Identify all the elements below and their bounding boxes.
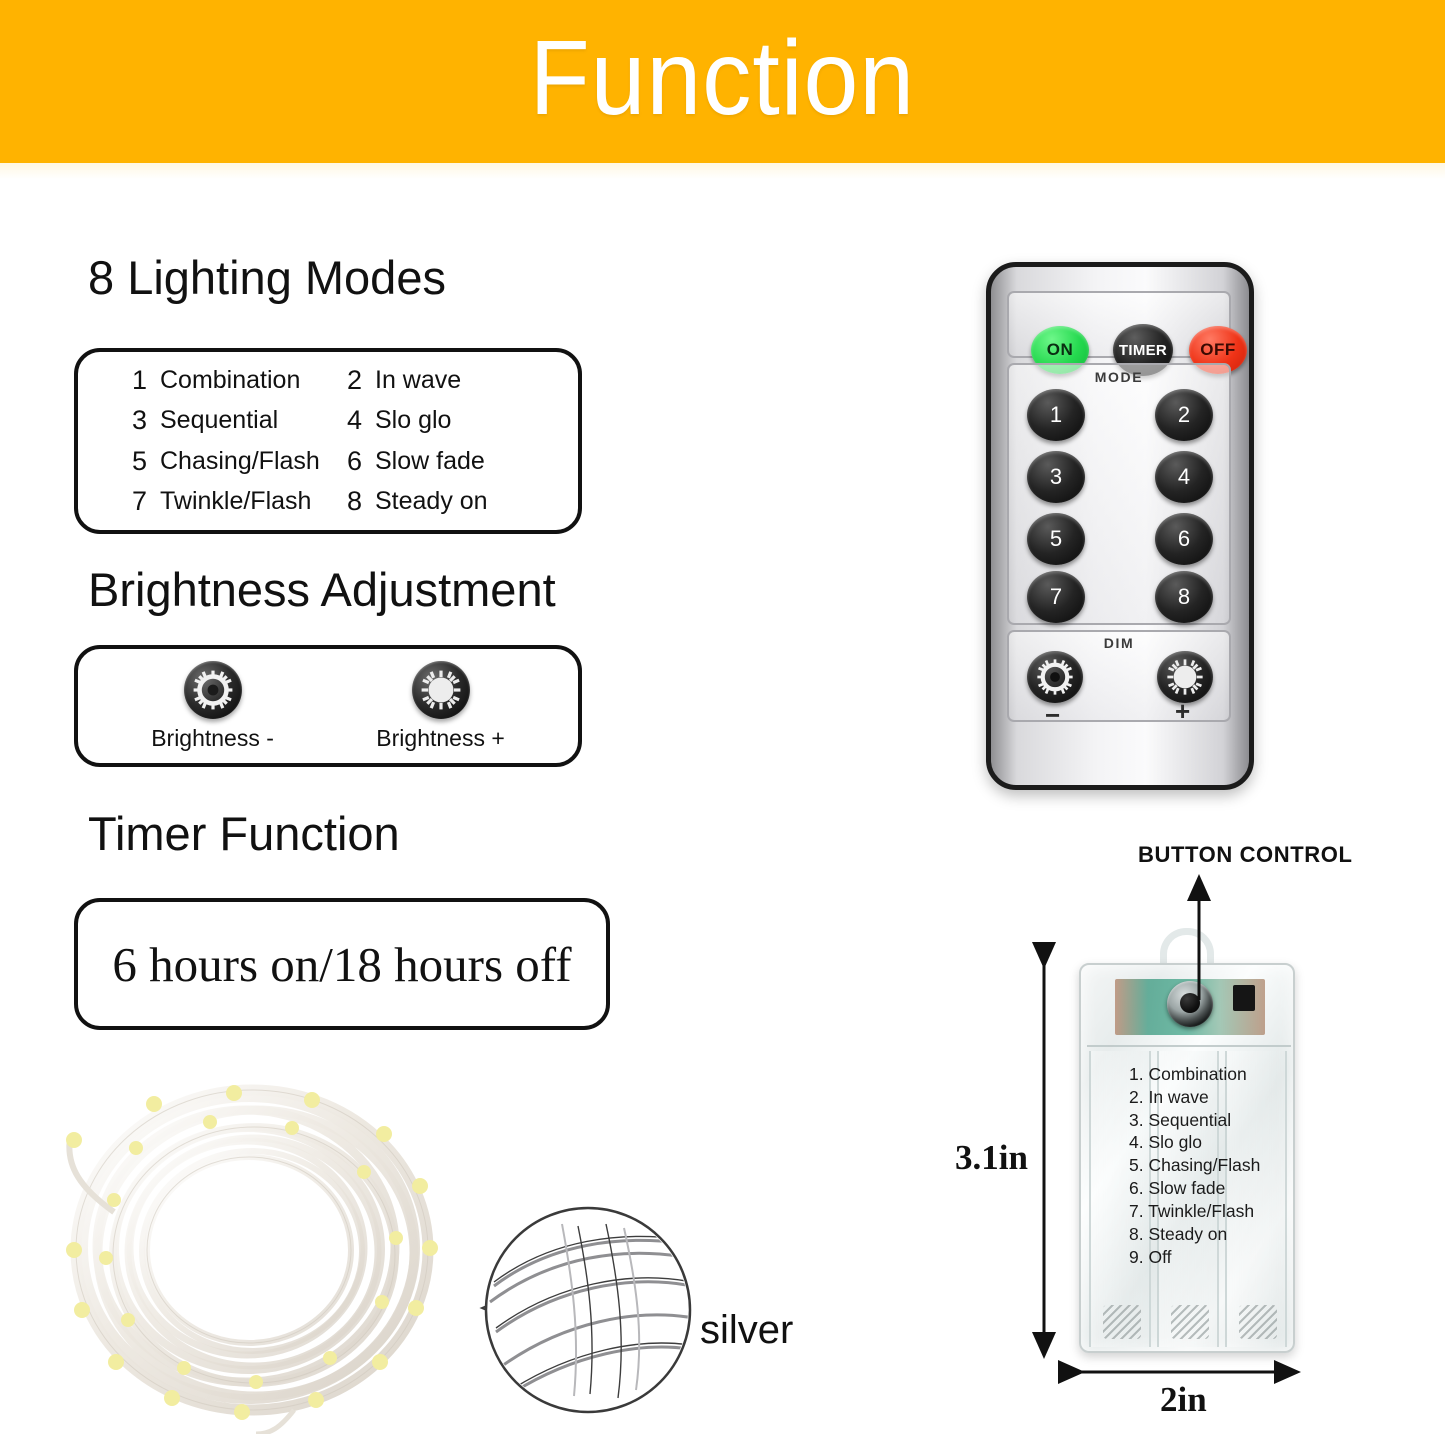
mode-label: In wave: [375, 366, 461, 395]
remote-control: ON TIMER OFF MODE 1 2 3 4 5 6 7 8 DIM: [986, 262, 1254, 790]
mode-number: 2: [347, 365, 373, 396]
mode-number: 6: [347, 446, 373, 477]
remote-mode-button-2[interactable]: 2: [1155, 389, 1213, 441]
banner-fade: [0, 163, 1445, 179]
infographic-page: Function 8 Lighting Modes 1 Combination …: [0, 0, 1445, 1441]
mode-item-5: 5 Chasing/Flash: [132, 441, 347, 482]
mode-number: 8: [347, 486, 373, 517]
timer-heading: Timer Function: [88, 806, 400, 861]
height-dimension-label: 3.1in: [955, 1138, 1028, 1178]
chip-icon: [1233, 985, 1255, 1011]
remote-power-pad: ON TIMER OFF: [1007, 291, 1231, 358]
mode-item-6: 6 Slow fade: [347, 441, 578, 482]
mode-number: 7: [132, 486, 158, 517]
sun-minus-icon: [1035, 657, 1075, 697]
lighting-modes-box: 1 Combination 2 In wave 3 Sequential 4 S…: [74, 348, 582, 534]
mode-label: Sequential: [160, 406, 278, 435]
brightness-heading: Brightness Adjustment: [88, 562, 556, 617]
mode-item-4: 4 Slo glo: [347, 401, 578, 442]
brightness-box: Brightness -: [74, 645, 582, 767]
mode-item-3: 3 Sequential: [132, 401, 347, 442]
mode-label: Steady on: [375, 487, 488, 516]
remote-mode-button-7[interactable]: 7: [1027, 571, 1085, 623]
mode-item-2: 2 In wave: [347, 360, 578, 401]
mode-number: 1: [132, 365, 158, 396]
remote-mode-button-4[interactable]: 4: [1155, 451, 1213, 503]
timer-box: 6 hours on/18 hours off: [74, 898, 610, 1030]
silver-label: silver: [700, 1308, 793, 1353]
mode-number: 5: [132, 446, 158, 477]
remote-mode-caption: MODE: [1009, 369, 1229, 385]
battery-mode-item: 2. In wave: [1129, 1086, 1295, 1109]
battery-mode-item: 8. Steady on: [1129, 1223, 1295, 1246]
mode-number: 4: [347, 405, 373, 436]
mode-label: Slo glo: [375, 406, 451, 435]
brightness-row: Brightness -: [78, 649, 578, 763]
brightness-plus-label: Brightness +: [376, 725, 505, 752]
battery-mode-item: 4. Slo glo: [1129, 1131, 1295, 1154]
lighting-modes-heading: 8 Lighting Modes: [88, 250, 446, 305]
remote-mode-button-3[interactable]: 3: [1027, 451, 1085, 503]
button-control-callout: BUTTON CONTROL: [1138, 842, 1353, 868]
led-string-coil: [44, 1062, 464, 1434]
battery-mode-item: 6. Slow fade: [1129, 1177, 1295, 1200]
remote-mode-button-1[interactable]: 1: [1027, 389, 1085, 441]
battery-box: 1. Combination 2. In wave 3. Sequential …: [1079, 963, 1295, 1353]
width-dimension-label: 2in: [1160, 1380, 1207, 1420]
remote-mode-pad: MODE 1 2 3 4 5 6 7 8: [1007, 363, 1231, 625]
battery-mode-item: 5. Chasing/Flash: [1129, 1154, 1295, 1177]
mode-label: Combination: [160, 366, 300, 395]
brightness-up-icon: [412, 661, 470, 719]
battery-spring: [1171, 1305, 1209, 1339]
battery-mode-item: 7. Twinkle/Flash: [1129, 1200, 1295, 1223]
mode-item-7: 7 Twinkle/Flash: [132, 482, 347, 523]
battery-mode-item: 1. Combination: [1129, 1063, 1295, 1086]
brightness-down-icon: [184, 661, 242, 719]
remote-dim-minus-sign: −: [1045, 702, 1060, 728]
battery-mode-item: 3. Sequential: [1129, 1109, 1295, 1132]
mode-label: Slow fade: [375, 447, 485, 476]
wire-magnifier: [460, 1190, 700, 1430]
brightness-minus-cell: Brightness -: [151, 661, 274, 752]
button-control-switch[interactable]: [1167, 981, 1213, 1027]
mode-number: 3: [132, 405, 158, 436]
battery-spring: [1239, 1305, 1277, 1339]
remote-mode-button-8[interactable]: 8: [1155, 571, 1213, 623]
battery-mode-item: 9. Off: [1129, 1246, 1295, 1269]
timer-value: 6 hours on/18 hours off: [78, 902, 606, 1026]
mode-label: Twinkle/Flash: [160, 487, 311, 516]
remote-dim-down-button[interactable]: [1027, 651, 1083, 703]
remote-dim-caption: DIM: [1009, 635, 1229, 651]
battery-divider: [1087, 1045, 1291, 1047]
remote-mode-button-6[interactable]: 6: [1155, 513, 1213, 565]
remote-dim-pad: DIM: [1007, 630, 1231, 722]
lighting-modes-grid: 1 Combination 2 In wave 3 Sequential 4 S…: [78, 352, 578, 530]
remote-mode-button-5[interactable]: 5: [1027, 513, 1085, 565]
battery-mode-list: 1. Combination 2. In wave 3. Sequential …: [1129, 1063, 1295, 1268]
page-title: Function: [530, 25, 916, 131]
battery-spring: [1103, 1305, 1141, 1339]
brightness-minus-label: Brightness -: [151, 725, 274, 752]
remote-dim-plus-sign: +: [1175, 698, 1190, 724]
header-banner: Function: [0, 0, 1445, 163]
mode-item-8: 8 Steady on: [347, 482, 578, 523]
sun-plus-icon: [1165, 657, 1205, 697]
mode-item-1: 1 Combination: [132, 360, 347, 401]
mode-label: Chasing/Flash: [160, 447, 320, 476]
brightness-plus-cell: Brightness +: [376, 661, 505, 752]
